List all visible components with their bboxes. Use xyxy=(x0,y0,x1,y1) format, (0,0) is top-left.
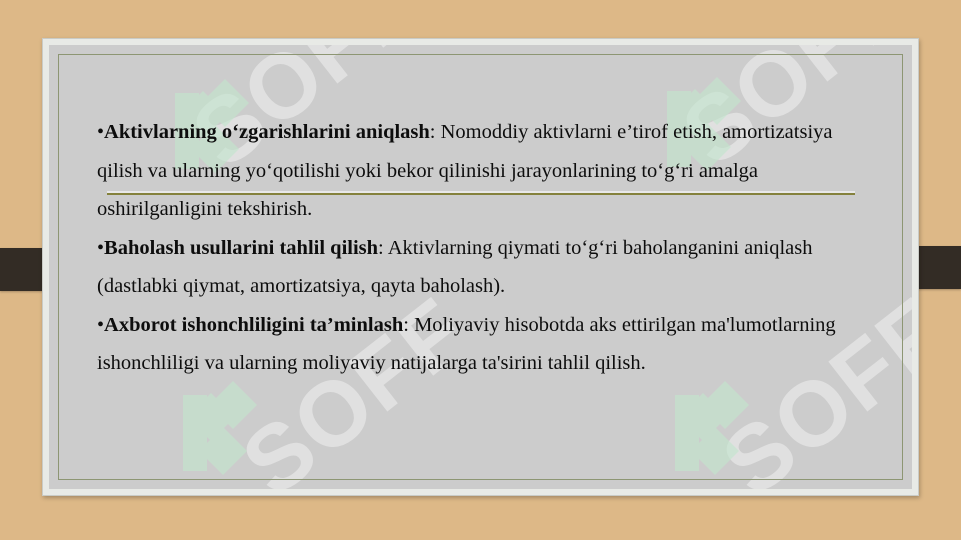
k-arrow-logo-icon xyxy=(177,375,269,489)
bullet-separator: : xyxy=(430,121,441,143)
bullet-item: •Aktivlarning o‘zgarishlarini aniqlash: … xyxy=(97,113,864,229)
slide-content: •Aktivlarning o‘zgarishlarini aniqlash: … xyxy=(49,45,912,383)
bullet-marker: • xyxy=(97,237,104,259)
bullet-lead: Aktivlarning o‘zgarishlarini aniqlash xyxy=(104,121,430,143)
bullet-separator: : xyxy=(378,237,388,259)
bullet-lead: Baholash usullarini tahlil qilish xyxy=(104,237,378,259)
slide-frame: SOFF SOFF SOFF SOFF xyxy=(42,38,919,496)
bullet-item: •Axborot ishonchliligini ta’minlash: Mol… xyxy=(97,306,864,383)
screenshot-canvas: SOFF SOFF SOFF SOFF xyxy=(0,0,961,540)
bullet-separator: : xyxy=(403,314,414,336)
k-arrow-logo-icon xyxy=(669,375,761,489)
bullet-item: •Baholash usullarini tahlil qilish: Akti… xyxy=(97,229,864,306)
bullet-marker: • xyxy=(97,314,104,336)
slide-body: SOFF SOFF SOFF SOFF xyxy=(49,45,912,489)
bullet-lead: Axborot ishonchliligini ta’minlash xyxy=(104,314,403,336)
bullet-marker: • xyxy=(97,121,104,143)
